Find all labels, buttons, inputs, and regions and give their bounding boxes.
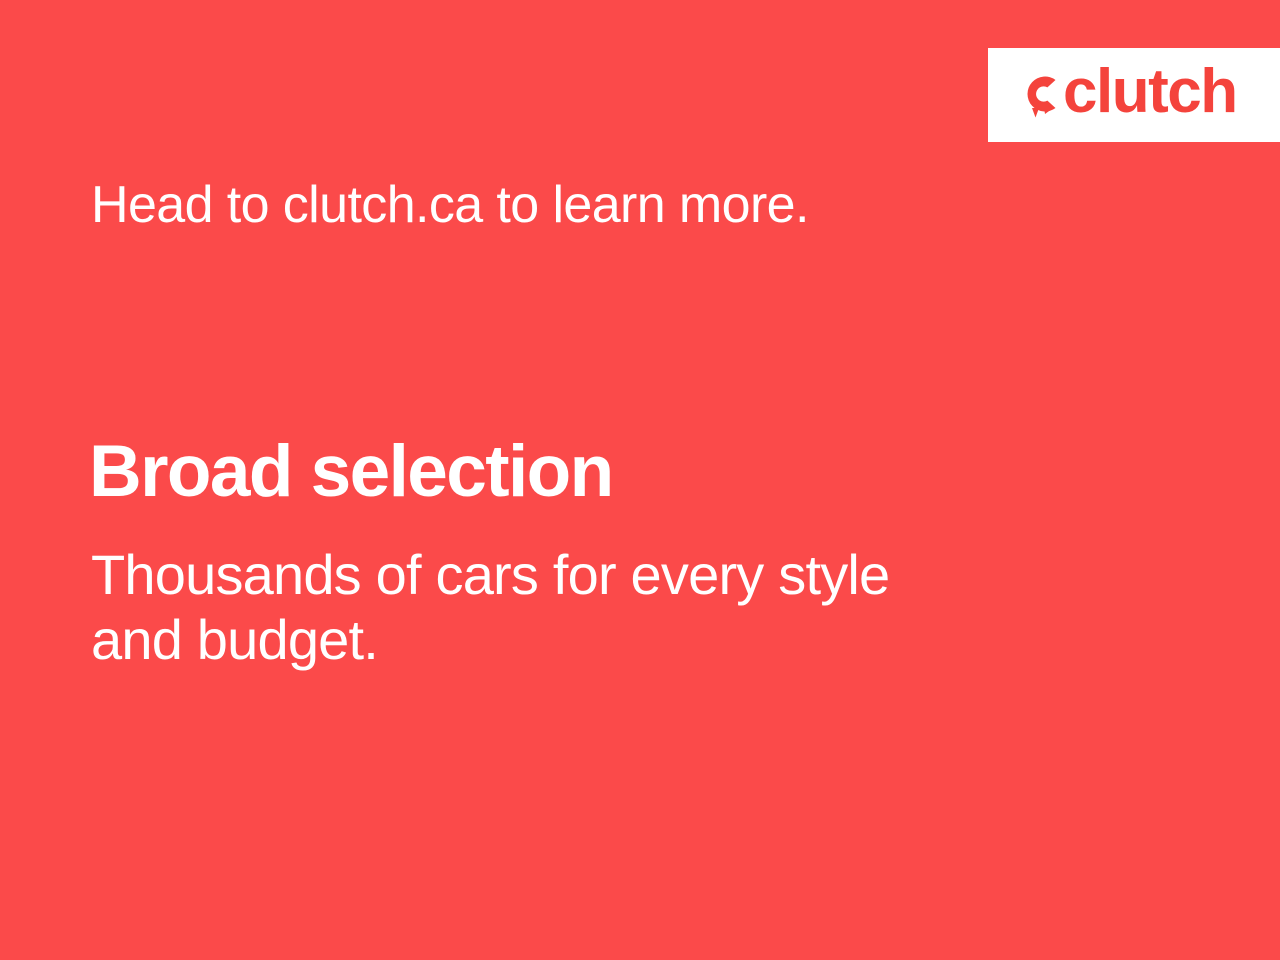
subhead-line-1: Thousands of cars for every style (91, 543, 1051, 608)
subhead-text: Thousands of cars for every style and bu… (91, 543, 1051, 673)
promo-slide: clutch Head to clutch.ca to learn more. … (0, 0, 1280, 960)
clutch-c-arc-icon (1014, 67, 1062, 123)
eyebrow-text: Head to clutch.ca to learn more. (91, 177, 809, 234)
clutch-logo-lockup: clutch (1014, 64, 1237, 126)
page-title: Broad selection (89, 434, 613, 511)
clutch-wordmark: clutch (1063, 61, 1237, 123)
clutch-logo-badge[interactable]: clutch (988, 48, 1280, 142)
subhead-line-2: and budget. (91, 608, 1051, 673)
